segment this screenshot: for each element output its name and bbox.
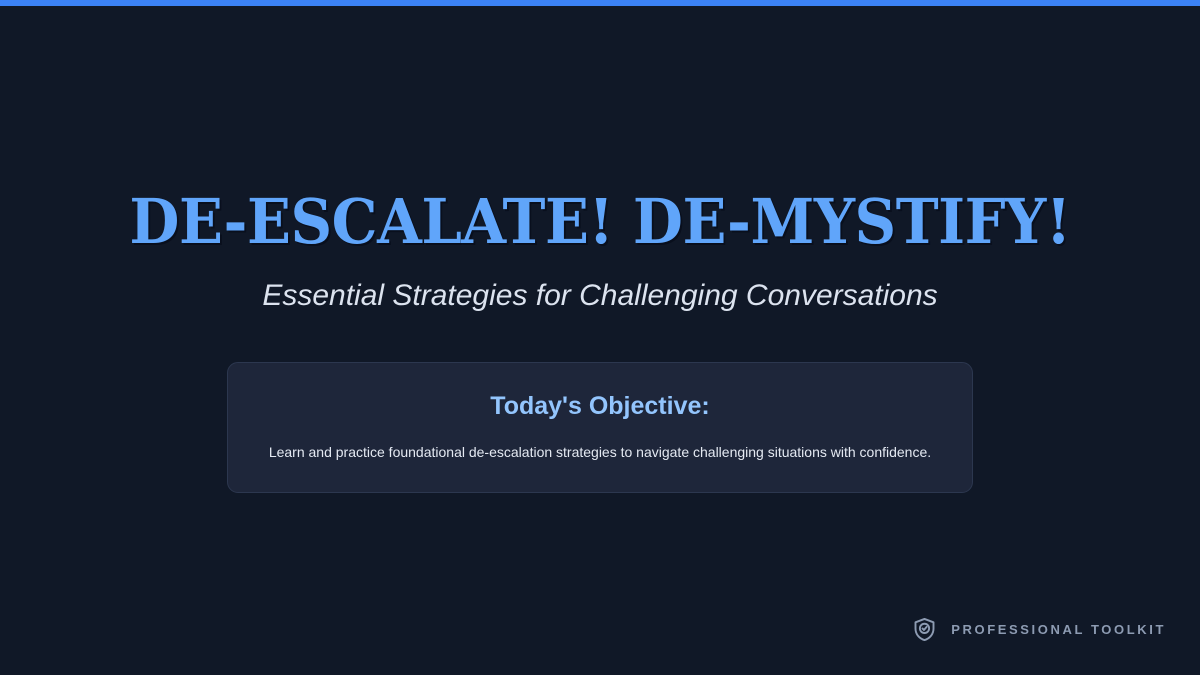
slide-content: DE-ESCALATE! DE-MYSTIFY! Essential Strat… — [0, 6, 1200, 675]
footer-label: PROFESSIONAL TOOLKIT — [951, 622, 1166, 637]
presentation-slide: DE-ESCALATE! DE-MYSTIFY! Essential Strat… — [0, 0, 1200, 675]
slide-title: DE-ESCALATE! DE-MYSTIFY! — [129, 191, 1070, 253]
objective-heading: Today's Objective: — [262, 391, 938, 421]
objective-card: Today's Objective: Learn and practice fo… — [227, 362, 973, 493]
shield-check-icon — [911, 616, 938, 643]
footer-badge: PROFESSIONAL TOOLKIT — [911, 616, 1166, 643]
slide-subtitle: Essential Strategies for Challenging Con… — [262, 279, 937, 314]
objective-body-text: Learn and practice foundational de-escal… — [262, 442, 938, 462]
